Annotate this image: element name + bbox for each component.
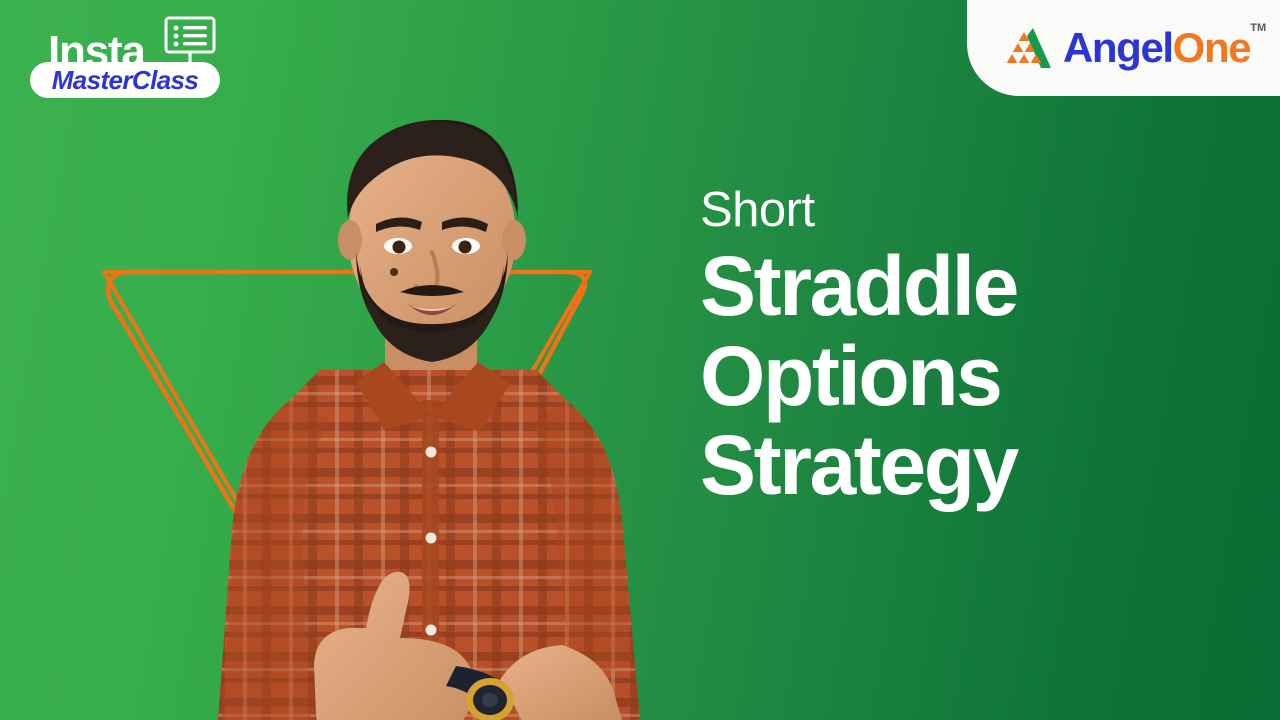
angelone-logo-panel: AngelOne TM — [967, 0, 1280, 96]
insta-masterclass-badge: Insta MasterClass — [30, 14, 260, 106]
headline-block: Short Straddle Options Strategy — [700, 186, 1240, 513]
video-thumbnail: Insta MasterClass — [0, 0, 1280, 720]
headline-line-1: Straddle — [700, 244, 1240, 330]
presenter-photo — [170, 100, 690, 720]
headline-main: Straddle Options Strategy — [700, 244, 1240, 509]
angelone-word-one: One — [1173, 24, 1250, 71]
headline-kicker: Short — [700, 186, 1240, 236]
masterclass-wordmark: MasterClass — [52, 67, 199, 93]
angelone-word-angel: Angel — [1063, 24, 1173, 71]
masterclass-pill: MasterClass — [30, 62, 220, 98]
angel-one-triangle-mark — [997, 26, 1053, 70]
headline-line-2: Options — [700, 334, 1240, 420]
headline-line-3: Strategy — [700, 423, 1240, 509]
angelone-wordmark: AngelOne TM — [1063, 27, 1250, 69]
trademark-symbol: TM — [1250, 23, 1266, 34]
